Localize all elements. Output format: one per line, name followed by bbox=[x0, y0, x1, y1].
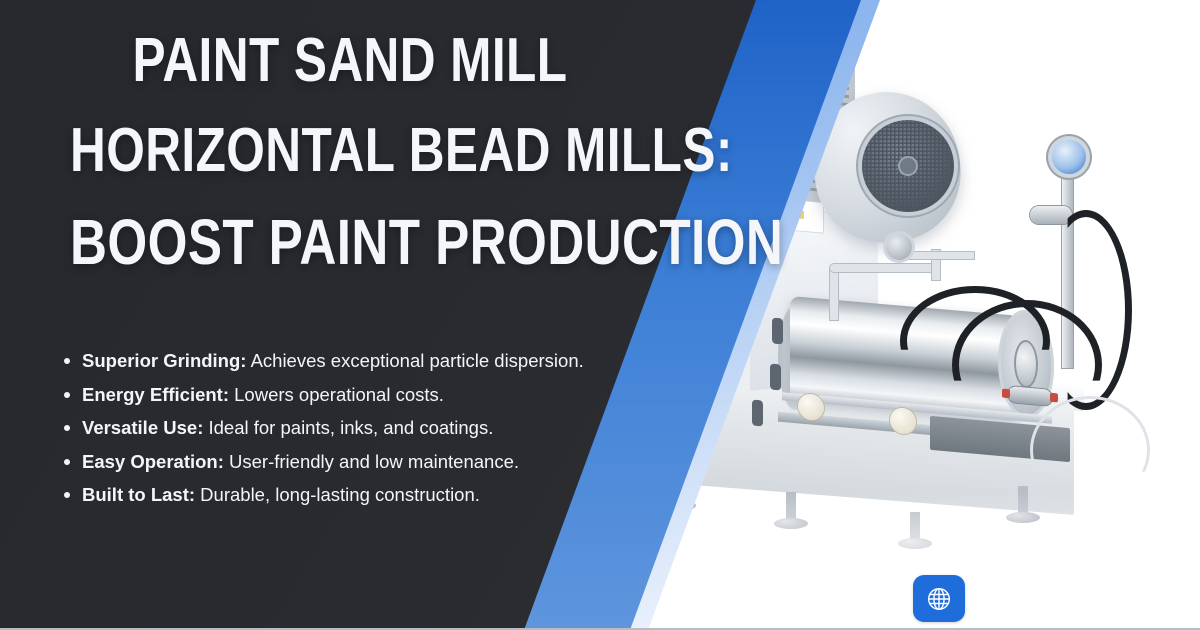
feature-label: Versatile Use: bbox=[82, 417, 203, 438]
list-item: Easy Operation: User-friendly and low ma… bbox=[44, 445, 744, 479]
promo-banner: PAINT SAND MILL HORIZONTAL BEAD MILLS: B… bbox=[0, 0, 1200, 630]
feature-text: User-friendly and low maintenance. bbox=[224, 451, 519, 472]
feature-text: Durable, long-lasting construction. bbox=[195, 484, 480, 505]
list-item: Superior Grinding: Achieves exceptional … bbox=[44, 344, 744, 378]
globe-icon bbox=[924, 584, 954, 614]
list-item: Built to Last: Durable, long-lasting con… bbox=[44, 478, 744, 512]
headline-line-3: BOOST PAINT PRODUCTION bbox=[70, 196, 630, 289]
pipe bbox=[900, 252, 974, 259]
feature-text: Ideal for paints, inks, and coatings. bbox=[203, 417, 493, 438]
feature-list: Superior Grinding: Achieves exceptional … bbox=[44, 344, 744, 512]
pipe bbox=[830, 268, 838, 320]
feature-label: Superior Grinding: bbox=[82, 350, 246, 371]
feature-label: Energy Efficient: bbox=[82, 384, 229, 405]
feature-label: Easy Operation: bbox=[82, 451, 224, 472]
list-item: Versatile Use: Ideal for paints, inks, a… bbox=[44, 411, 744, 445]
page-title: PAINT SAND MILL HORIZONTAL BEAD MILLS: B… bbox=[70, 16, 630, 289]
vent-slot bbox=[772, 318, 783, 345]
list-item: Energy Efficient: Lowers operational cos… bbox=[44, 378, 744, 412]
pipe bbox=[830, 264, 940, 272]
headline-line-1: PAINT SAND MILL bbox=[70, 16, 630, 106]
pressure-gauge bbox=[886, 234, 912, 260]
vent-slot bbox=[770, 364, 781, 391]
feature-label: Built to Last: bbox=[82, 484, 195, 505]
pressure-gauge bbox=[1052, 140, 1086, 174]
feature-text: Lowers operational costs. bbox=[229, 384, 444, 405]
feature-text: Achieves exceptional particle dispersion… bbox=[246, 350, 583, 371]
fan-hub bbox=[900, 158, 916, 174]
vent-slot bbox=[752, 400, 763, 427]
stand-joint bbox=[1030, 206, 1072, 224]
brand-badge[interactable] bbox=[913, 575, 965, 622]
headline-line-2: HORIZONTAL BEAD MILLS: bbox=[70, 106, 630, 196]
